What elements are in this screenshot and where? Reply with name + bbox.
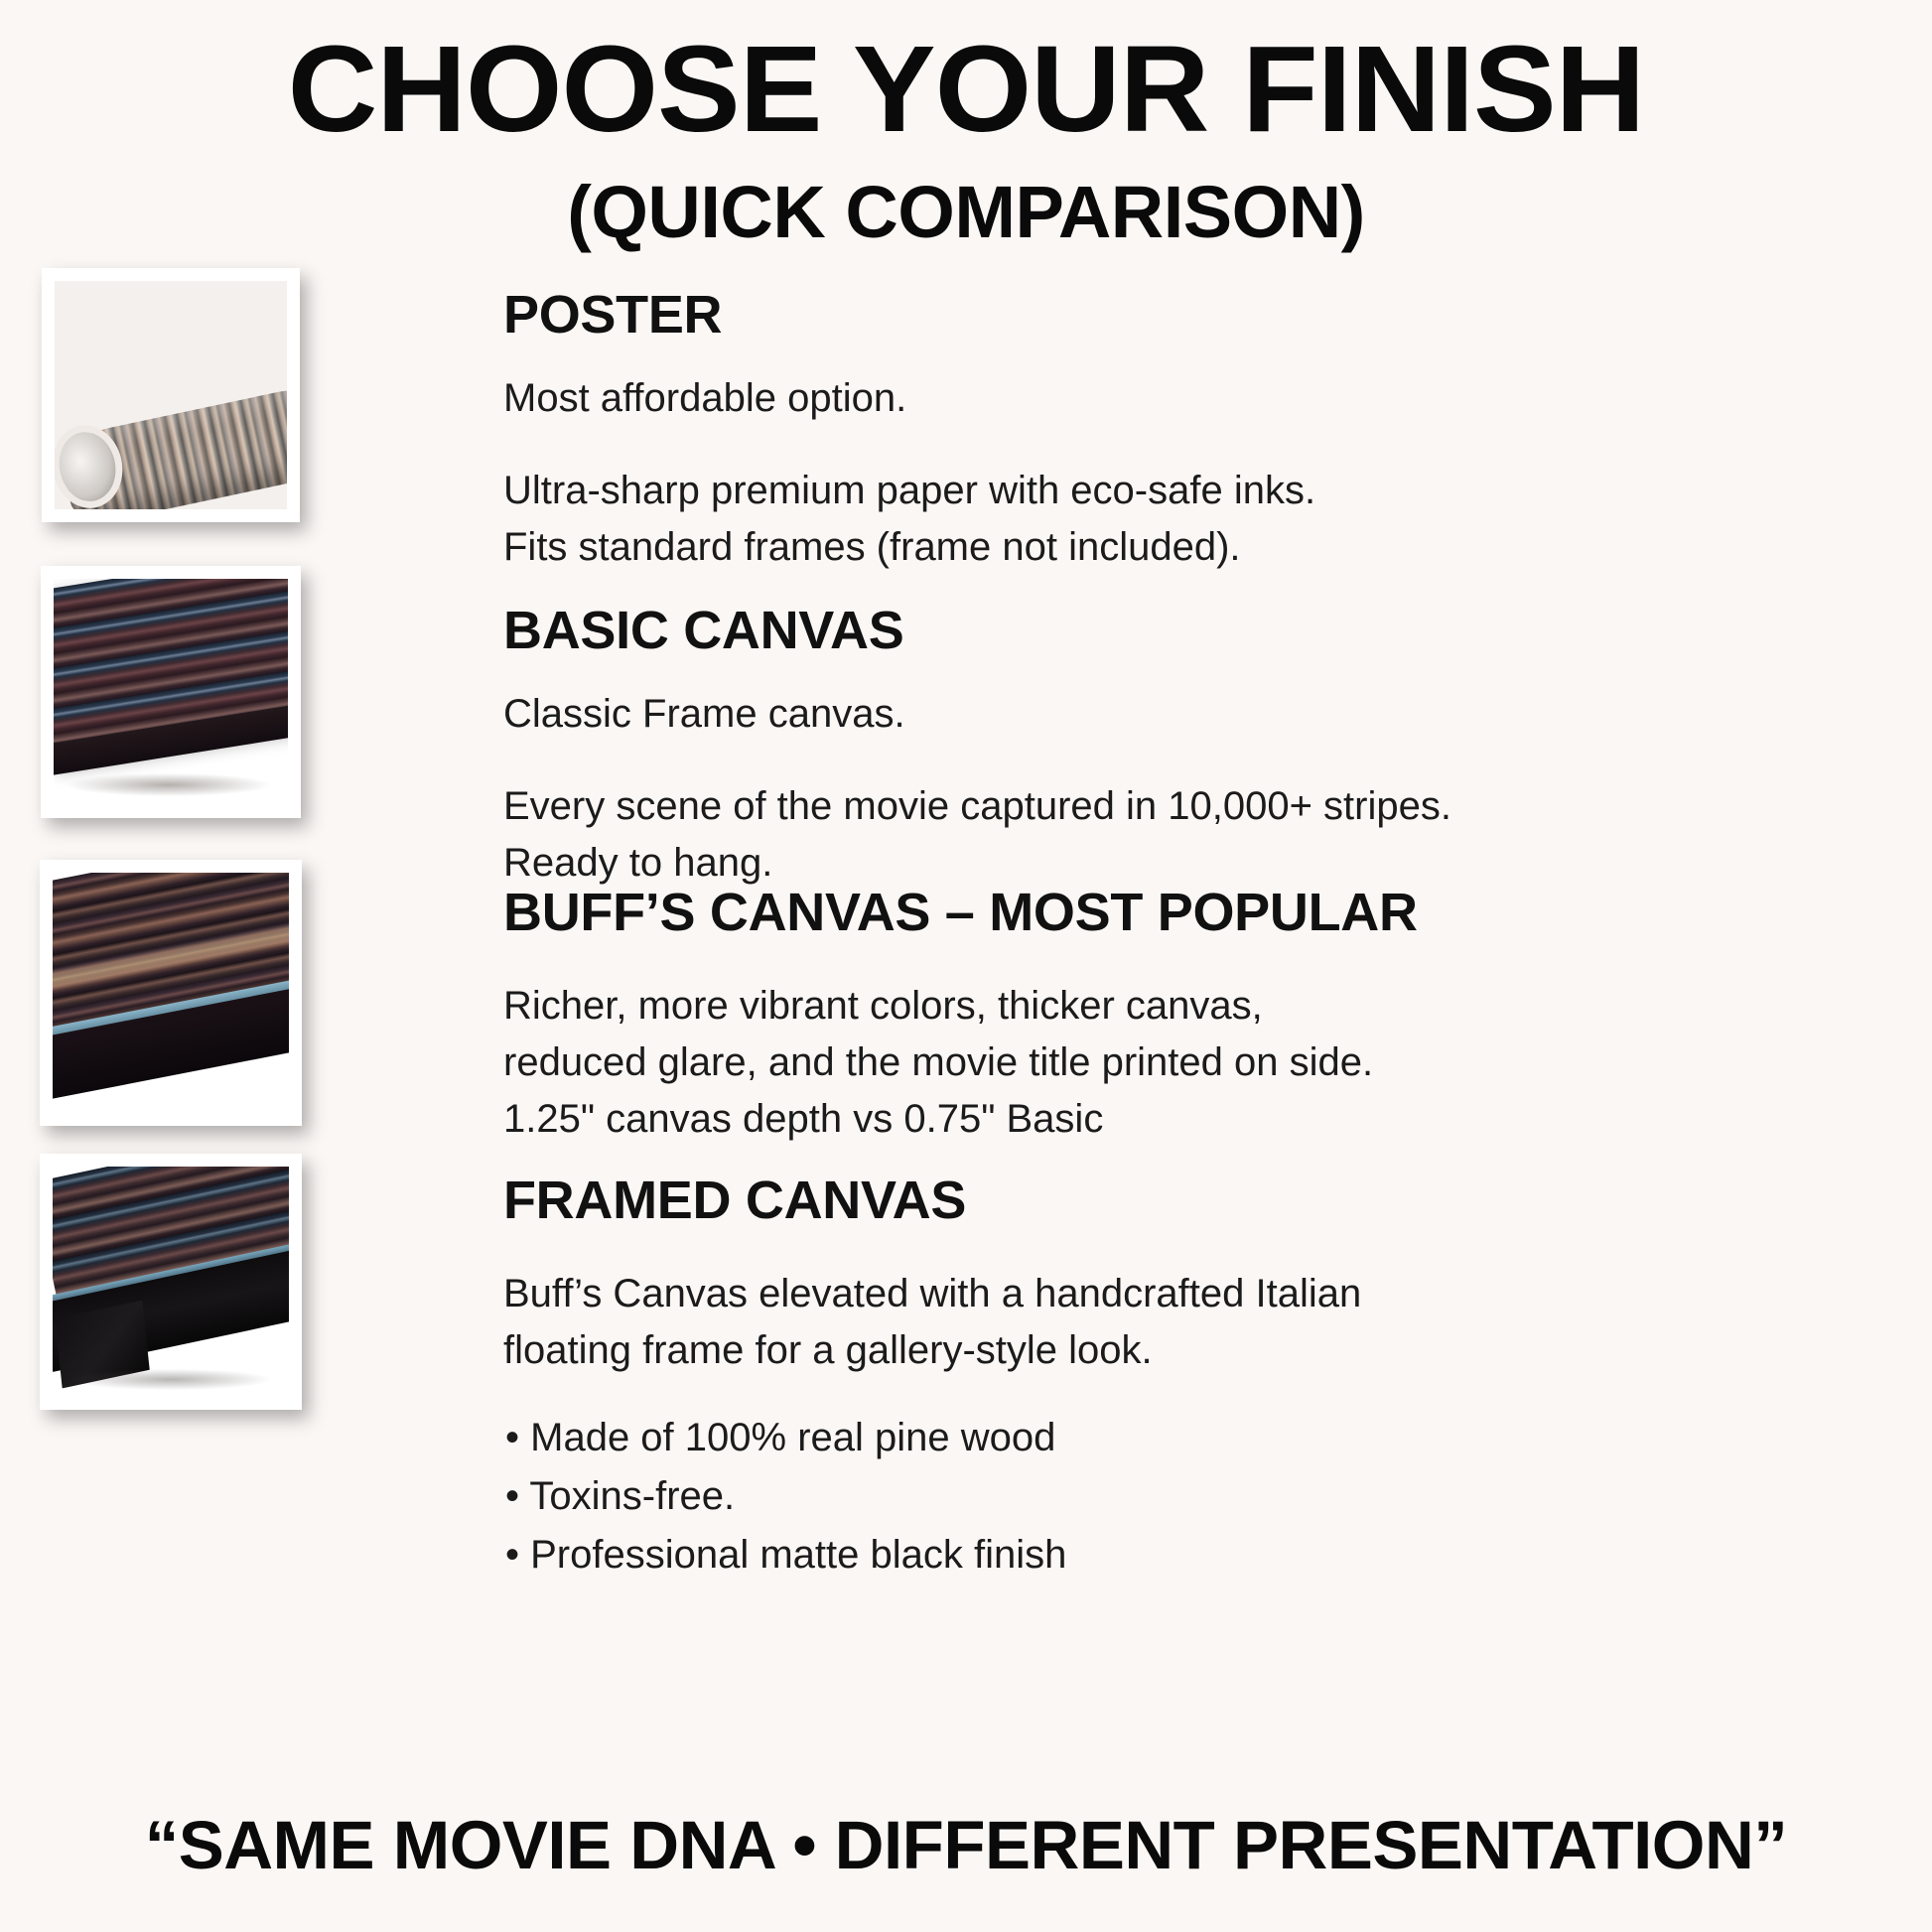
thumbnail-wrapper (0, 566, 320, 818)
canvas-drop-shadow (71, 1369, 270, 1390)
option-text-column: BUFF’S CANVAS – MOST POPULAR Richer, mor… (320, 860, 1932, 1148)
poster-artwork (55, 281, 287, 509)
finish-option-framed-canvas: FRAMED CANVAS Buff’s Canvas elevated wit… (0, 1154, 1932, 1451)
list-item: Professional matte black finish (503, 1526, 1892, 1585)
buffs-canvas-artwork (53, 873, 289, 1113)
footer: “SAME MOVIE DNA • DIFFERENT PRESENTATION… (0, 1806, 1932, 1884)
option-body-line: Every scene of the movie captured in 10,… (503, 778, 1892, 835)
basic-canvas-thumbnail[interactable] (41, 566, 301, 818)
page-subtitle: (QUICK COMPARISON) (0, 172, 1932, 252)
canvas-drop-shadow (68, 773, 269, 796)
basic-canvas-artwork (54, 579, 288, 805)
option-title: POSTER (503, 286, 1892, 345)
thumbnail-wrapper (0, 860, 320, 1126)
finish-options-list: POSTER Most affordable option. Ultra-sha… (0, 268, 1932, 1451)
option-body-line: floating frame for a gallery-style look. (503, 1322, 1892, 1379)
poster-roll-thumbnail[interactable] (42, 268, 300, 522)
finish-option-basic-canvas: BASIC CANVAS Classic Frame canvas. Every… (0, 566, 1932, 860)
list-item: Toxins-free. (503, 1467, 1892, 1526)
option-body-line: 1.25" canvas depth vs 0.75" Basic (503, 1091, 1892, 1148)
option-body-line: Richer, more vibrant colors, thicker can… (503, 978, 1892, 1035)
thumbnail-wrapper (0, 268, 320, 522)
footer-tagline: “SAME MOVIE DNA • DIFFERENT PRESENTATION… (0, 1806, 1932, 1884)
option-text-column: BASIC CANVAS Classic Frame canvas. Every… (320, 566, 1932, 892)
finish-option-buffs-canvas: BUFF’S CANVAS – MOST POPULAR Richer, mor… (0, 860, 1932, 1154)
framed-canvas-artwork (53, 1167, 289, 1397)
page-title: CHOOSE YOUR FINISH (0, 28, 1932, 152)
framed-canvas-thumbnail[interactable] (40, 1154, 302, 1410)
finish-option-poster: POSTER Most affordable option. Ultra-sha… (0, 268, 1932, 566)
header: CHOOSE YOUR FINISH (QUICK COMPARISON) (0, 0, 1932, 253)
option-title: BUFF’S CANVAS – MOST POPULAR (503, 884, 1892, 942)
option-bullet-list: Made of 100% real pine wood Toxins-free.… (503, 1409, 1892, 1586)
option-title: BASIC CANVAS (503, 602, 1892, 660)
option-body: Richer, more vibrant colors, thicker can… (503, 978, 1892, 1147)
option-body: Buff’s Canvas elevated with a handcrafte… (503, 1266, 1892, 1379)
option-body-line: Buff’s Canvas elevated with a handcrafte… (503, 1266, 1892, 1322)
infographic-page: CHOOSE YOUR FINISH (QUICK COMPARISON) PO… (0, 0, 1932, 1932)
option-text-column: FRAMED CANVAS Buff’s Canvas elevated wit… (320, 1154, 1932, 1586)
buffs-canvas-thumbnail[interactable] (40, 860, 302, 1126)
option-text-column: POSTER Most affordable option. Ultra-sha… (320, 268, 1932, 576)
option-body-line: reduced glare, and the movie title print… (503, 1035, 1892, 1091)
option-tagline: Most affordable option. (503, 370, 1892, 427)
option-body: Ultra-sharp premium paper with eco-safe … (503, 463, 1892, 576)
thumbnail-wrapper (0, 1154, 320, 1410)
option-tagline: Classic Frame canvas. (503, 686, 1892, 743)
list-item: Made of 100% real pine wood (503, 1409, 1892, 1467)
option-body-line: Ultra-sharp premium paper with eco-safe … (503, 463, 1892, 519)
option-title: FRAMED CANVAS (503, 1172, 1892, 1230)
